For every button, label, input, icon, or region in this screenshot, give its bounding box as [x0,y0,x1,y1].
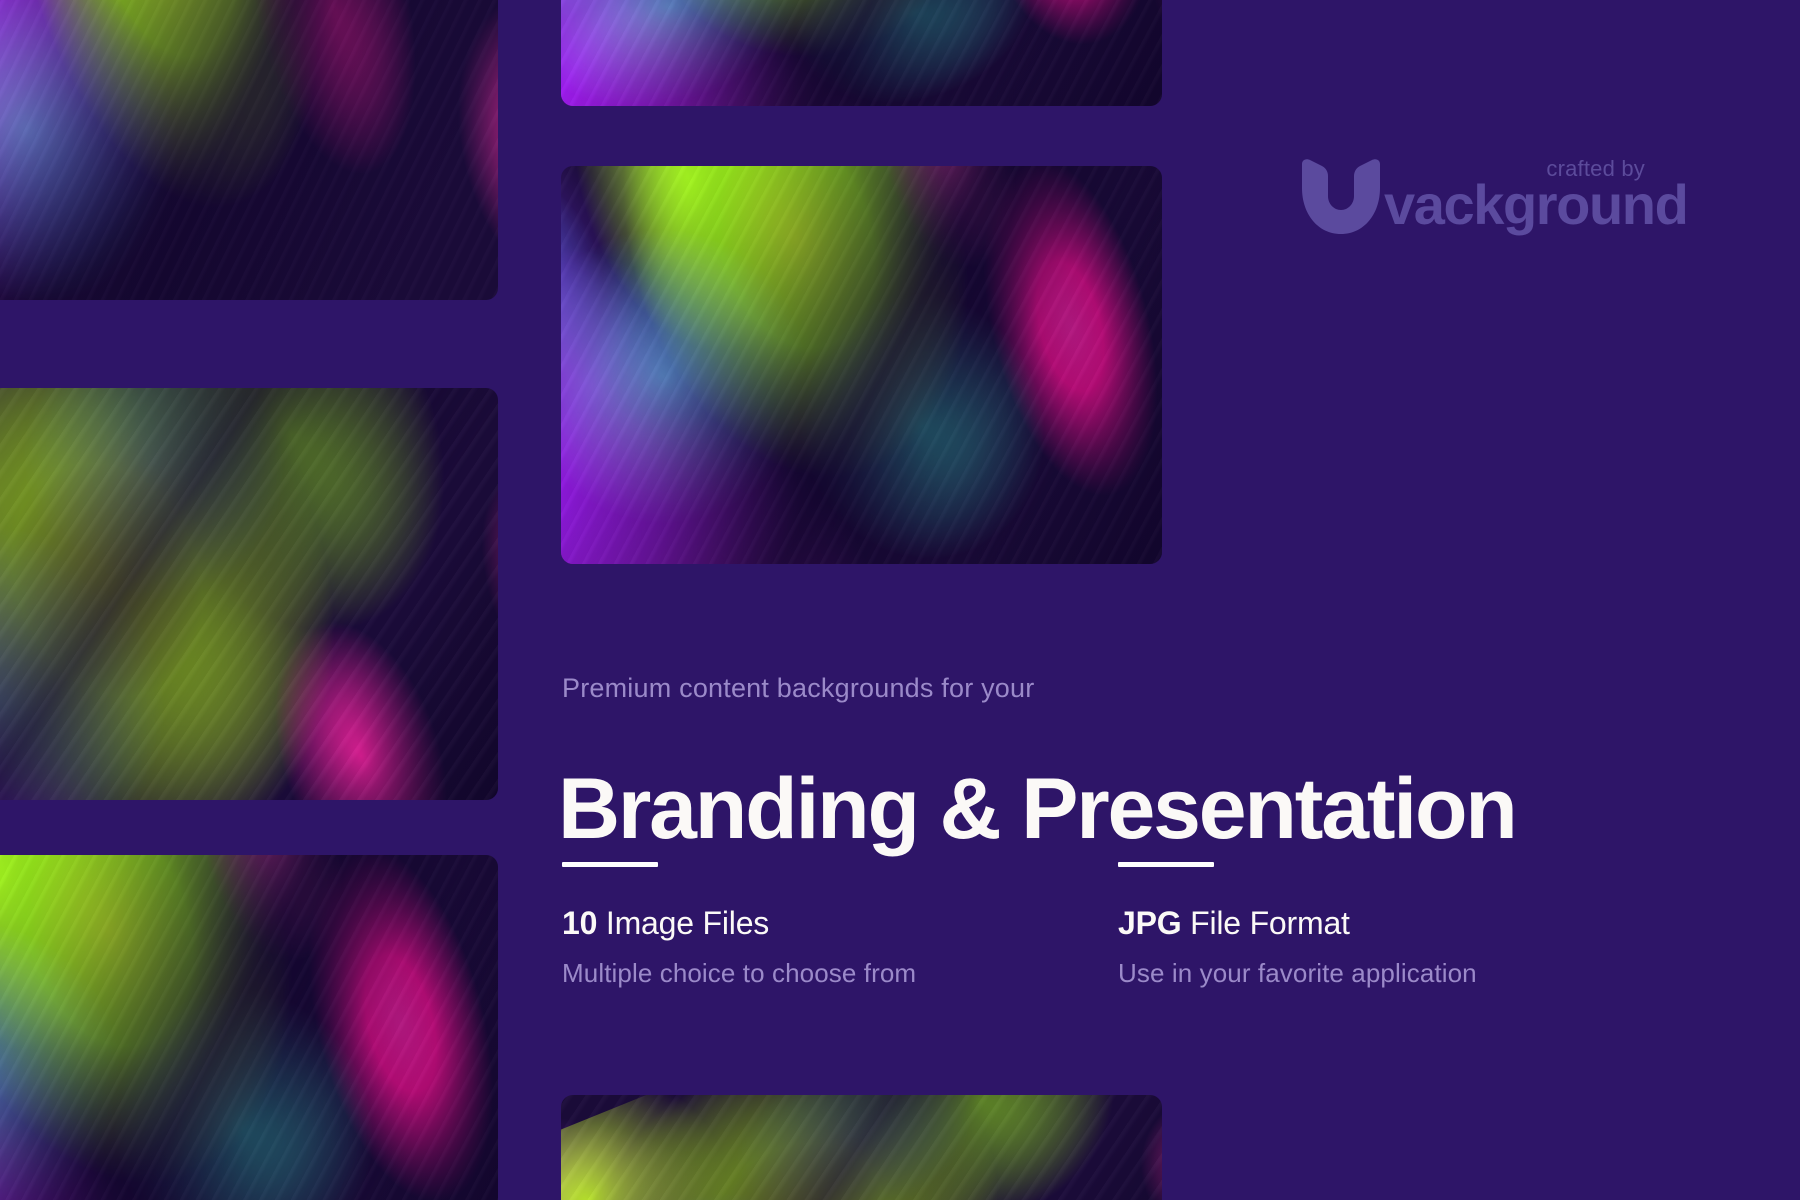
gradient-layer-ripple [561,166,1162,564]
feature-title-rest: File Format [1181,905,1349,941]
preview-card-center-1[interactable] [561,0,1162,106]
feature-title: JPG File Format [1118,905,1477,942]
feature-image-files: 10 Image Files Multiple choice to choose… [562,862,916,989]
feature-title-rest: Image Files [597,905,769,941]
poster-canvas: crafted by vackground Premium content ba… [0,0,1800,1200]
gradient-layer-ripple [0,855,498,1200]
feature-rule [562,862,658,867]
preview-card-center-3[interactable] [561,1095,1162,1200]
page-title: Branding & Presentation [558,766,1516,854]
feature-subtitle: Use in your favorite application [1118,958,1477,989]
gradient-layer-ripple [0,388,498,800]
gradient-layer-ripple [561,1095,1162,1200]
feature-title: 10 Image Files [562,905,916,942]
hero-eyebrow: Premium content backgrounds for your [562,673,1034,704]
feature-subtitle: Multiple choice to choose from [562,958,916,989]
preview-card-center-2[interactable] [561,166,1162,564]
feature-rule [1118,862,1214,867]
brand-wordmark: vackground [1384,172,1687,237]
preview-card-left-3[interactable] [0,855,498,1200]
feature-title-strong: JPG [1118,905,1181,941]
preview-card-left-1[interactable] [0,0,498,300]
vackground-v-logo-icon [1296,158,1382,236]
brand-lockup[interactable]: crafted by vackground [1296,150,1646,250]
gradient-layer-ripple [561,0,1162,106]
feature-file-format: JPG File Format Use in your favorite app… [1118,862,1477,989]
preview-card-left-2[interactable] [0,388,498,800]
gradient-layer-ripple [0,0,498,300]
feature-title-strong: 10 [562,905,597,941]
